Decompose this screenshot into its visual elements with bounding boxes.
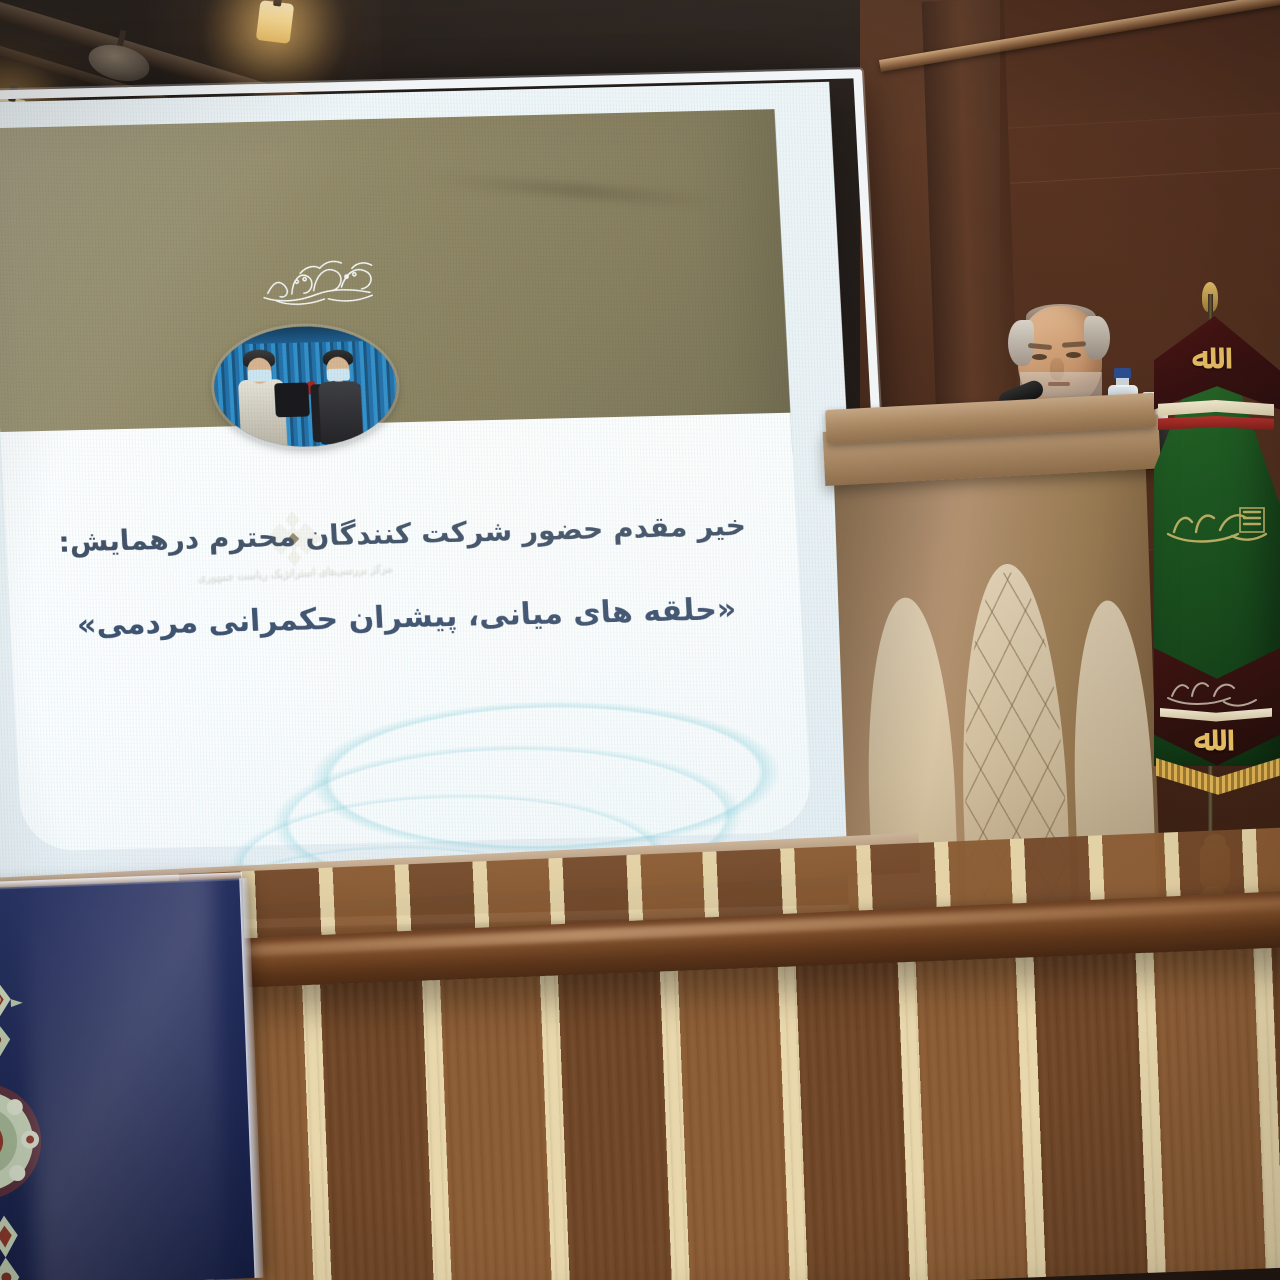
photo-figure-left-mask	[247, 369, 272, 382]
slide-oval-photo	[211, 324, 399, 448]
bismillah-calligraphy-icon	[254, 246, 389, 316]
persian-carpet-banner	[0, 878, 258, 1280]
speaker-eye-left	[1032, 354, 1047, 360]
flag-script-top	[1164, 488, 1272, 558]
carpet-medallion-icon	[0, 909, 5, 967]
flag-script-bottom	[1164, 670, 1260, 714]
conference-hall-photo: مرکز بررسی‌های استراتژیک ریاست جمهوری خی…	[0, 0, 1280, 1280]
carpet-sheen	[22, 859, 230, 1280]
flag-allah-emblem-icon: ﷲ	[1192, 336, 1212, 377]
projection-screen: مرکز بررسی‌های استراتژیک ریاست جمهوری خی…	[0, 82, 871, 902]
photo-figure-right-mask	[326, 368, 350, 381]
flag-allah-emblem-icon-2: ﷲ	[1194, 718, 1214, 759]
projected-slide: مرکز بررسی‌های استراتژیک ریاست جمهوری خی…	[0, 82, 871, 902]
speaker-eye-right	[1066, 352, 1081, 358]
photo-table	[274, 382, 310, 417]
speaker-hair-right	[1084, 316, 1110, 360]
slide-text-block: خیر مقدم حضور شرکت کنندگان محترم درهمایش…	[31, 503, 778, 649]
photo-figure-right-robe	[318, 381, 363, 444]
ceiling-lamp-icon	[256, 0, 295, 44]
